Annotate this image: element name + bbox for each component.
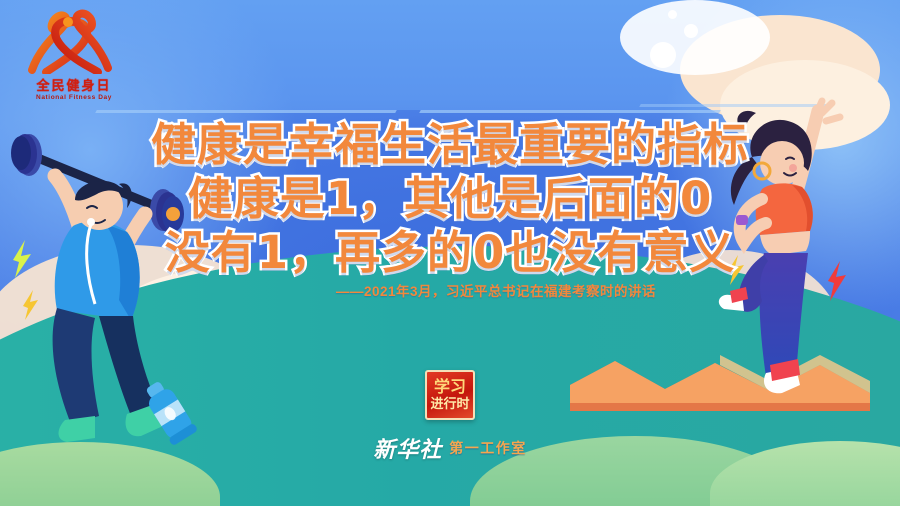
badge-line-1: 学习 [434,379,466,397]
attribution-wrap: ——2021年3月，习近平总书记在福建考察时的讲话 [0,280,900,301]
bottom-credit: 新华社 第一工作室 [0,432,900,464]
fitness-figures-icon [16,8,132,74]
bubble-icon [684,24,698,38]
headline-block: 健康是幸福生活最重要的指标 健康是1，其他是后面的0 没有1，再多的0也没有意义… [0,118,900,301]
headline-line-1: 健康是幸福生活最重要的指标 [0,118,900,172]
headline-attribution: ——2021年3月，习近平总书记在福建考察时的讲话 [336,284,776,299]
logo-english-text: National Fitness Day [16,94,132,101]
credit-studio: 第一工作室 [449,438,527,458]
headline-line-2: 健康是1，其他是后面的0 [0,172,900,226]
badge-line-2: 进行时 [430,397,469,411]
xuexi-jinxingshi-badge[interactable]: 学习 进行时 [425,370,475,420]
credit-agency: 新华社 [373,432,442,464]
headline-line-3: 没有1，再多的0也没有意义 [0,226,900,280]
national-fitness-day-logo: 全民健身日 National Fitness Day [16,8,132,112]
bubble-icon [650,42,676,68]
decorative-rule [95,110,397,113]
fitness-poster: 全民健身日 National Fitness Day 健康是幸福生活最重要的指标… [0,0,900,506]
bubble-icon [668,10,677,19]
decorative-rule [419,110,721,113]
logo-chinese-text: 全民健身日 [16,79,132,92]
cloud-shape [620,0,770,75]
